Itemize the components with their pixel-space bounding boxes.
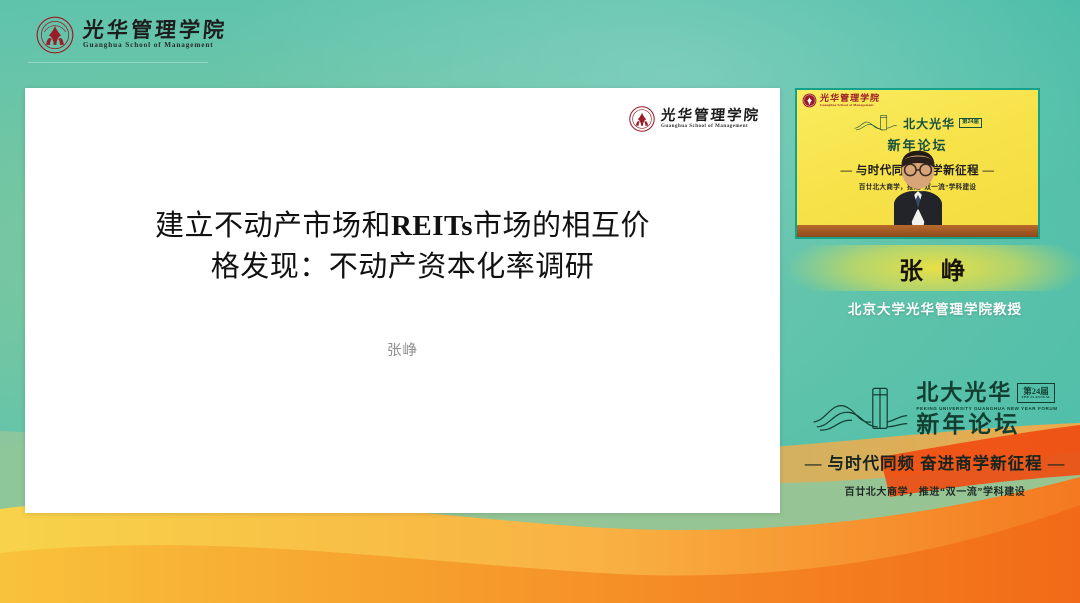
speaker-title: 北京大学光华管理学院教授	[790, 298, 1080, 318]
header-bar: 光华管理学院 Guanghua School of Management	[0, 0, 640, 70]
peking-university-seal-icon	[36, 16, 74, 54]
guanghua-logo-slide: 光华管理学院 Guanghua School of Management	[629, 106, 760, 132]
presentation-slide[interactable]: 光华管理学院 Guanghua School of Management 建立不…	[25, 88, 780, 513]
forum-mark-row: 北大光华 第24届 THE 24 ANNUAL PEKING UNIVERSIT…	[790, 382, 1080, 438]
speaker-name-plate: 张 峥	[790, 245, 1080, 291]
video-brand-row: 北大光华 第24届	[853, 112, 982, 134]
forum-edition-en: THE 24 ANNUAL	[1021, 396, 1050, 399]
forum-subtitle: 百廿北大商学，推进“双一流”学科建设	[790, 483, 1080, 498]
forum-brand-en: PEKING UNIVERSITY GUANGHUA NEW YEAR FORU…	[916, 406, 1057, 411]
video-logo-cn: 光华管理学院	[820, 94, 881, 103]
speaker-name: 张 峥	[899, 251, 971, 286]
forum-tagline: — 与时代同频 奋进商学新征程 —	[790, 450, 1080, 474]
slide-title-line-2: 格发现：不动产资本化率调研	[211, 251, 595, 283]
guanghua-logo-header: 光华管理学院 Guanghua School of Management	[36, 16, 227, 54]
guanghua-logo-video: 光华管理学院 Guanghua School of Management	[802, 93, 880, 108]
video-desk	[797, 225, 1038, 237]
mountain-wave-mark-icon	[812, 382, 908, 438]
forum-brand-cn: 北大光华	[916, 382, 1012, 404]
forum-edition-badge: 第24届 THE 24 ANNUAL	[1017, 383, 1054, 403]
peking-university-seal-icon	[629, 106, 655, 132]
header-divider	[28, 62, 208, 63]
live-stream-stage: 光华管理学院 Guanghua School of Management 光华管…	[0, 0, 1080, 603]
slide-title-part-2: 市场的相互价	[473, 210, 650, 242]
slide-title: 建立不动产市场和REITs市场的相互价 格发现：不动产资本化率调研	[103, 206, 703, 287]
slide-title-part-1: 建立不动产市场和	[155, 210, 391, 242]
speaker-portrait-icon	[859, 145, 977, 237]
video-brand-cn: 北大光华	[903, 115, 955, 132]
slide-title-reits: REITs	[391, 210, 473, 242]
header-logo-en: Guanghua School of Management	[83, 42, 227, 49]
video-frame: 光华管理学院 Guanghua School of Management	[797, 90, 1038, 237]
forum-words: 北大光华 第24届 THE 24 ANNUAL PEKING UNIVERSIT…	[916, 382, 1057, 437]
header-logo-cn: 光华管理学院	[82, 20, 228, 41]
forum-brand-cn2: 新年论坛	[916, 413, 1057, 437]
slide-content: 建立不动产市场和REITs市场的相互价 格发现：不动产资本化率调研 张峥	[25, 206, 780, 360]
forum-top-row: 北大光华 第24届 THE 24 ANNUAL	[916, 382, 1057, 404]
video-logo-en: Guanghua School of Management	[820, 104, 880, 107]
slide-logo-en: Guanghua School of Management	[661, 124, 760, 129]
peking-university-seal-icon	[802, 93, 817, 108]
right-rail: 光华管理学院 Guanghua School of Management	[790, 0, 1080, 603]
mountain-wave-mark-icon	[853, 112, 899, 134]
speaker-video-tile[interactable]: 光华管理学院 Guanghua School of Management	[795, 88, 1040, 239]
slide-author: 张峥	[387, 339, 418, 360]
forum-edition-text: 第24届	[1023, 386, 1049, 396]
forum-lockup: 北大光华 第24届 THE 24 ANNUAL PEKING UNIVERSIT…	[790, 382, 1080, 527]
video-edition-badge: 第24届	[959, 118, 982, 127]
slide-logo-cn: 光华管理学院	[660, 109, 760, 124]
